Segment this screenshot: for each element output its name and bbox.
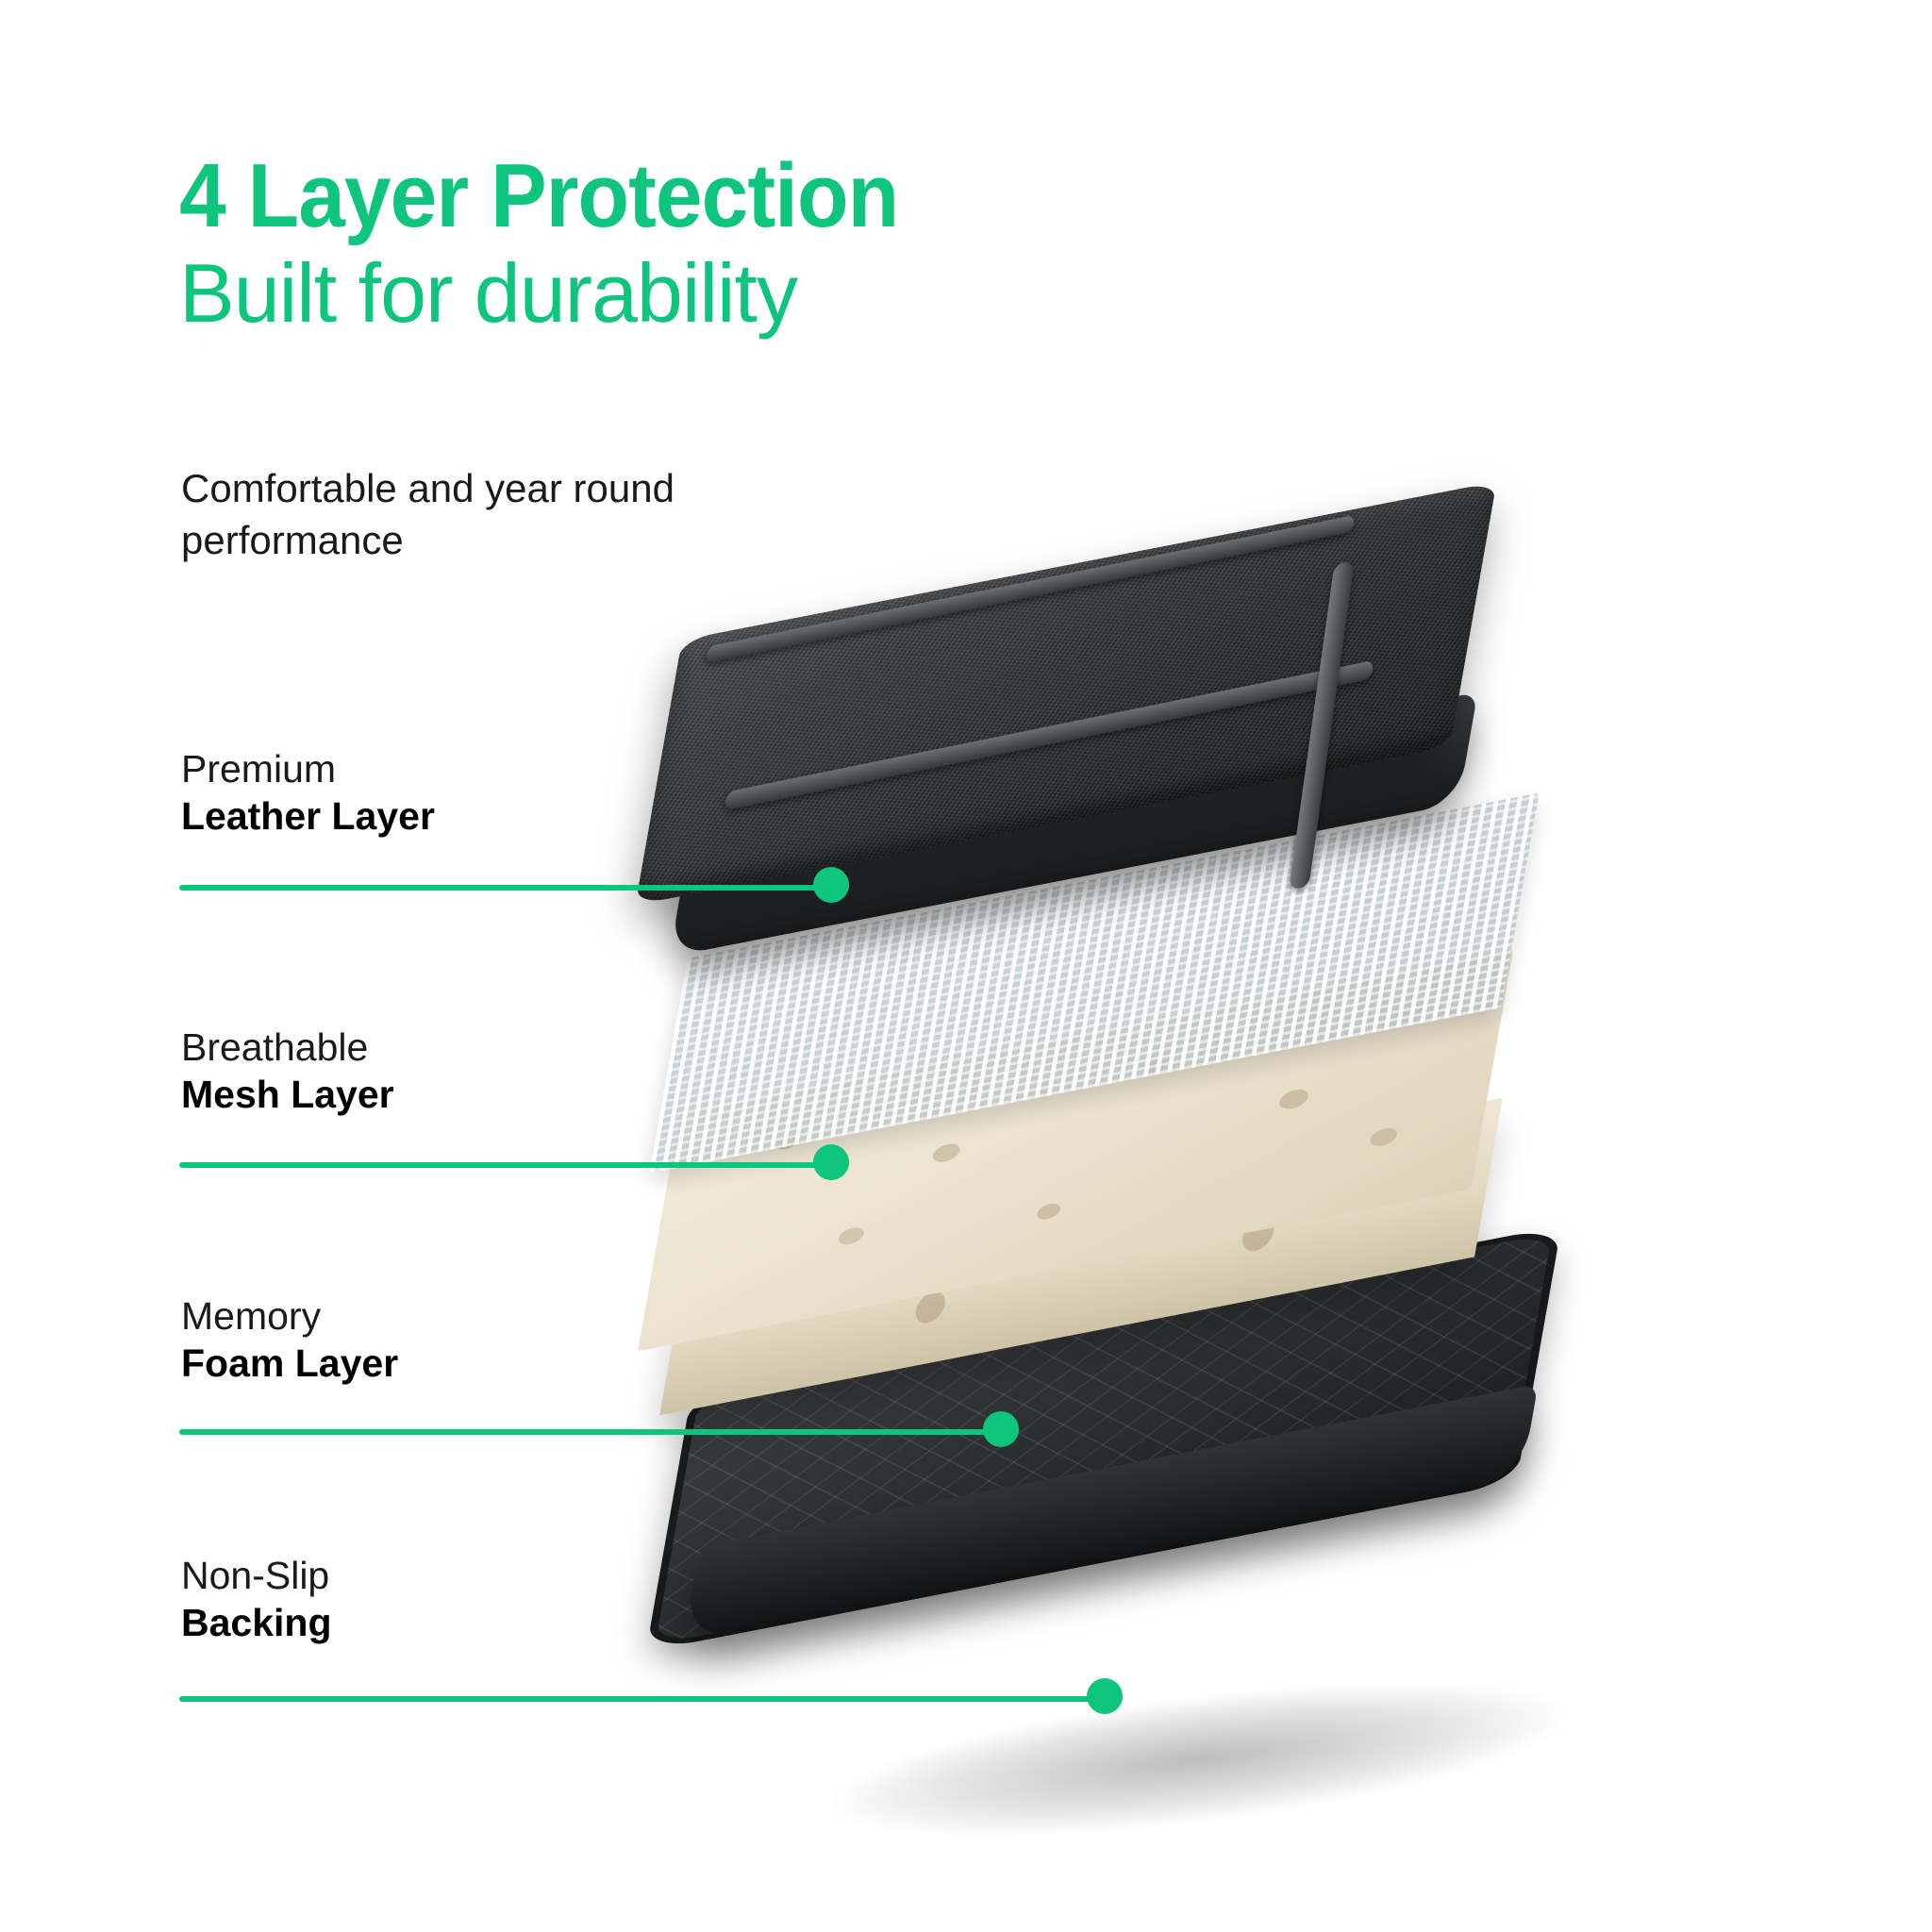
callout-backing-top: Non-Slip (181, 1552, 709, 1599)
callout-leather-bottom: Leather Layer (181, 792, 709, 840)
leader-dot-leather (813, 867, 849, 903)
leader-line-mesh (179, 1162, 849, 1168)
leader-line-leather (179, 885, 849, 891)
page-title: 4 Layer Protection (179, 151, 1144, 241)
leader-dot-mesh (813, 1144, 849, 1180)
leader-dot-backing (1087, 1678, 1123, 1714)
callout-backing: Non-Slip Backing (181, 1552, 709, 1646)
callout-leather-top: Premium (181, 745, 709, 792)
callout-foam-bottom: Foam Layer (181, 1340, 709, 1387)
callout-foam: Memory Foam Layer (181, 1292, 709, 1387)
page-subtitle: Built for durability (179, 247, 1217, 341)
layer-leather (651, 491, 1613, 1057)
leader-dot-foam (983, 1411, 1019, 1447)
leader-line-backing (179, 1696, 1123, 1702)
callout-backing-bottom: Backing (181, 1599, 709, 1646)
headline-block: 4 Layer Protection Built for durability (179, 151, 1217, 341)
callout-foam-top: Memory (181, 1292, 709, 1340)
intro-text: Comfortable and year round performance (181, 462, 709, 567)
callout-mesh-top: Breathable (181, 1024, 709, 1071)
leader-line-foam (179, 1429, 1019, 1435)
callout-leather: Premium Leather Layer (181, 745, 709, 840)
callout-mesh: Breathable Mesh Layer (181, 1024, 709, 1118)
callout-mesh-bottom: Mesh Layer (181, 1071, 709, 1118)
